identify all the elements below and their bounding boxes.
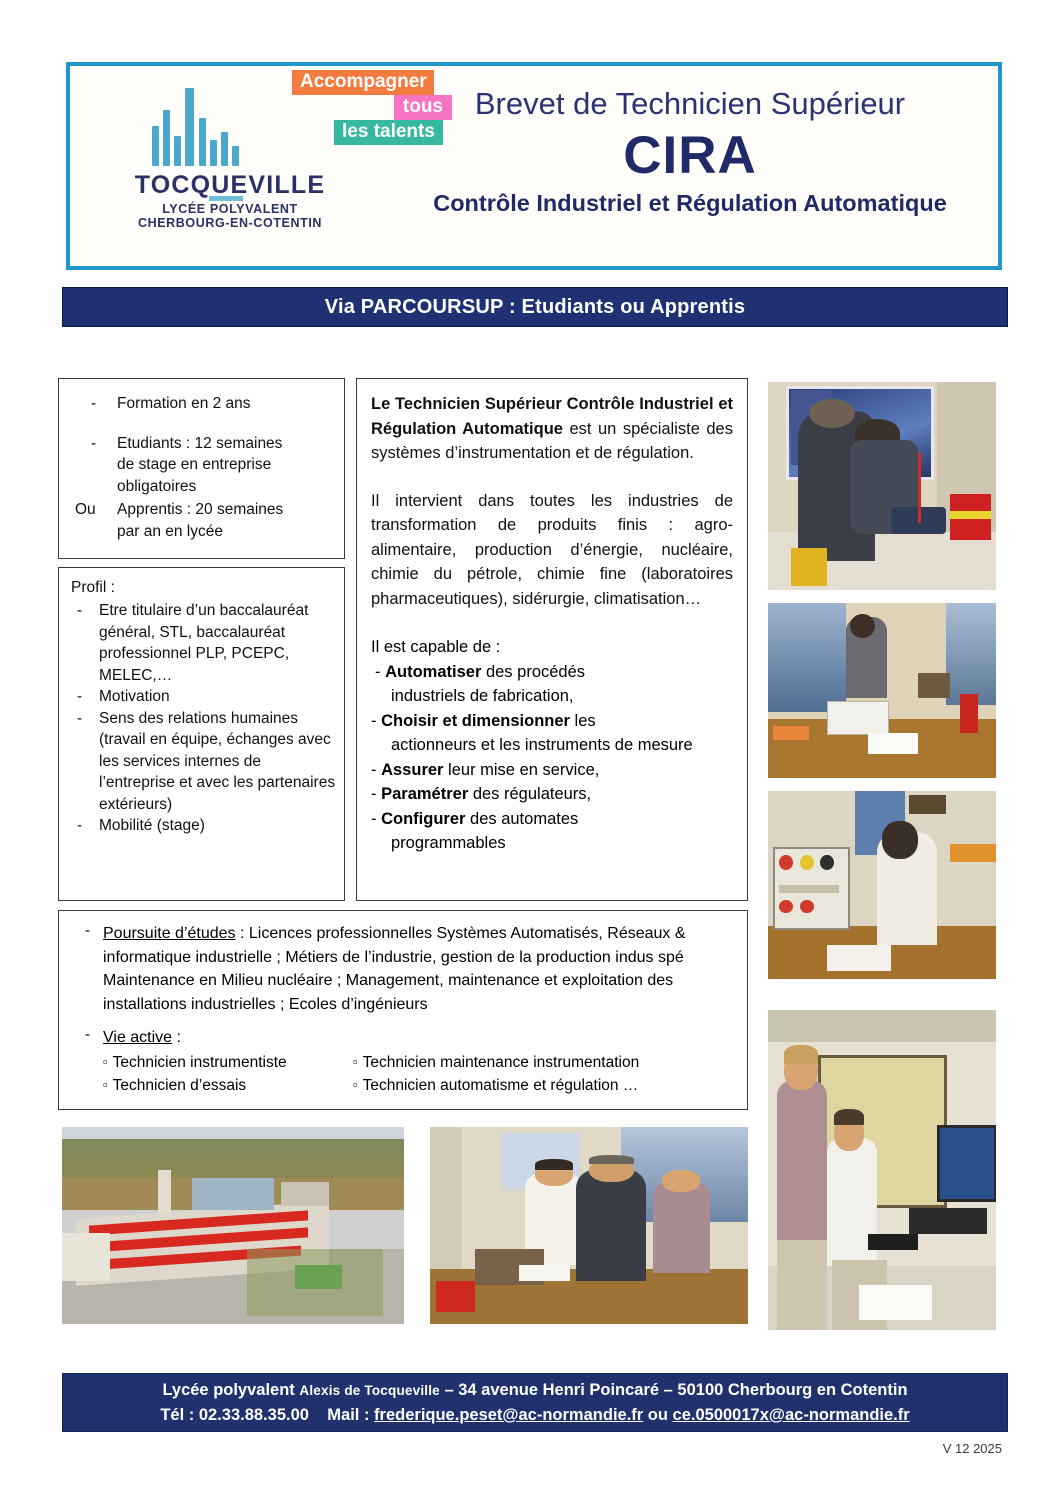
footer-school-name: Alexis de Tocqueville [299,1383,440,1398]
footer-mail-label: Mail : [327,1406,374,1424]
logo-underline [209,196,243,201]
jobs-column-left: Technicien instrumentiste Technicien d’e… [103,1051,353,1097]
duration-item-1: - Formation en 2 ans [69,393,334,415]
capability-item: - Automatiser des procédés [371,660,733,685]
duration-box: - Formation en 2 ans - Etudiants : 12 se… [58,378,345,559]
footer-address-prefix: Lycée polyvalent [162,1381,299,1399]
capability-bullet: - [371,761,377,779]
profile-item-text: Mobilité (stage) [99,815,336,837]
capability-item: - Paramétrer des régulateurs, [371,782,733,807]
capabilities-heading: Il est capable de : [371,635,733,660]
capability-verb: Choisir et dimensionner [381,712,570,730]
photo-student-instrumentation-bench [768,603,996,778]
jobs-columns: Technicien instrumentiste Technicien d’e… [71,1051,735,1097]
working-life-label: Vie active [103,1029,172,1046]
jobs-column-right: Technicien maintenance instrumentation T… [353,1051,639,1097]
further-studies-row: - Poursuite d’études : Licences professi… [71,922,735,1016]
logo-subtitle-line1: LYCÉE POLYVALENT [90,202,370,216]
duration-item-2-line3: obligatoires [117,476,334,498]
duration-item-3-line2: par an en lycée [117,521,334,543]
duration-item-3-bullet: Ou [69,499,117,542]
job-item: Technicien automatisme et régulation … [353,1074,639,1097]
description-box: Le Technicien Supérieur Contrôle Industr… [356,378,748,901]
profile-box: Profil : - Etre titulaire d’un baccalaur… [58,567,345,901]
capability-rest: des procédés [481,663,585,681]
duration-item-3: Ou Apprentis : 20 semaines par an en lyc… [69,499,334,542]
photo-teacher-and-student-test-bench [768,382,996,590]
capability-bullet: - [371,785,377,803]
capability-verb: Automatiser [385,663,481,681]
capability-bullet: - [371,810,377,828]
capability-bullet: - [371,712,377,730]
footer-address-line: Lycée polyvalent Alexis de Tocqueville –… [162,1378,907,1403]
logo-school-subtitle: LYCÉE POLYVALENT CHERBOURG-EN-COTENTIN [90,202,370,230]
capability-item: - Choisir et dimensionner les [371,709,733,734]
duration-item-1-text: Formation en 2 ans [117,393,334,415]
footer-contact-line: Tél : 02.33.88.35.00 Mail : frederique.p… [160,1403,909,1427]
capability-rest: des régulateurs, [468,785,591,803]
profile-item: - Motivation [71,686,336,708]
job-item: Technicien instrumentiste [103,1051,353,1074]
document-version: V 12 2025 [0,1441,1002,1456]
logo-bars-icon [152,88,262,166]
capability-item: - Configurer des automates [371,807,733,832]
capability-rest: leur mise en service, [443,761,599,779]
poster-page: TOCQUEVILLE LYCÉE POLYVALENT CHERBOURG-E… [0,0,1058,1497]
profile-item-bullet: - [71,686,99,708]
outcomes-box: - Poursuite d’études : Licences professi… [58,910,748,1110]
capability-verb: Paramétrer [381,785,468,803]
capability-item: - Assurer leur mise en service, [371,758,733,783]
program-acronym: CIRA [400,124,980,188]
job-item: Technicien maintenance instrumentation [353,1051,639,1074]
capability-continuation: actionneurs et les instruments de mesure [371,733,733,758]
duration-item-2-bullet: - [69,433,117,498]
capability-verb: Configurer [381,810,465,828]
footer-address-rest: – 34 avenue Henri Poincaré – 50100 Cherb… [440,1381,908,1399]
duration-item-1-bullet: - [69,393,117,415]
working-life-bullet: - [71,1026,103,1050]
profile-item-bullet: - [71,815,99,837]
profile-item-bullet: - [71,600,99,686]
footer-email-1[interactable]: frederique.peset@ac-normandie.fr [374,1406,643,1424]
profile-item: - Sens des relations humaines (travail e… [71,708,336,816]
duration-spacer [69,417,334,433]
description-paragraph-1: Le Technicien Supérieur Contrôle Industr… [371,392,733,466]
footer-phone: Tél : 02.33.88.35.00 [160,1406,309,1424]
capability-verb: Assurer [381,761,443,779]
profile-title: Profil : [71,577,336,599]
capabilities-list: - Automatiser des procédés industriels d… [371,660,733,856]
program-full-name: Contrôle Industriel et Régulation Automa… [400,188,980,218]
capability-rest: des automates [465,810,578,828]
profile-item-text: Sens des relations humaines (travail en … [99,708,336,816]
logo-subtitle-line2: CHERBOURG-EN-COTENTIN [90,216,370,230]
capability-continuation: industriels de fabrication, [371,684,733,709]
duration-item-3-line1: Apprentis : 20 semaines [117,499,334,521]
photo-students-around-workbench [430,1127,748,1324]
parcoursup-banner-text: Via PARCOURSUP : Etudiants ou Apprentis [325,296,745,319]
profile-item: - Etre titulaire d’un baccalauréat génér… [71,600,336,686]
footer-contact-bar: Lycée polyvalent Alexis de Tocqueville –… [62,1373,1008,1432]
photo-students-at-supervision-computer [768,1010,996,1330]
photo-aerial-view-of-campus [62,1127,404,1324]
job-item: Technicien d’essais [103,1074,353,1097]
capability-bullet: - [375,663,381,681]
profile-item: - Mobilité (stage) [71,815,336,837]
profile-item-text: Motivation [99,686,336,708]
header-panel: TOCQUEVILLE LYCÉE POLYVALENT CHERBOURG-E… [66,62,1002,270]
capability-continuation: programmables [371,831,733,856]
duration-item-2-line2: de stage en entreprise [117,454,334,476]
duration-item-2: - Etudiants : 12 semaines de stage en en… [69,433,334,498]
profile-item-bullet: - [71,708,99,816]
photo-student-reading-near-panel [768,791,996,979]
parcoursup-banner: Via PARCOURSUP : Etudiants ou Apprentis [62,287,1008,327]
description-paragraph-2: Il intervient dans toutes les industries… [371,489,733,612]
further-studies-label: Poursuite d’études [103,925,236,942]
working-life-suffix: : [172,1029,181,1046]
header-titles: Brevet de Technicien Supérieur CIRA Cont… [400,84,980,218]
working-life-row: - Vie active : [71,1026,735,1050]
duration-item-2-line1: Etudiants : 12 semaines [117,433,334,455]
capability-rest: les [570,712,596,730]
footer-email-2[interactable]: ce.0500017x@ac-normandie.fr [673,1406,910,1424]
further-studies-bullet: - [71,922,103,1016]
profile-item-text: Etre titulaire d’un baccalauréat général… [99,600,336,686]
diploma-title: Brevet de Technicien Supérieur [400,84,980,124]
footer-mail-separator: ou [643,1406,672,1424]
